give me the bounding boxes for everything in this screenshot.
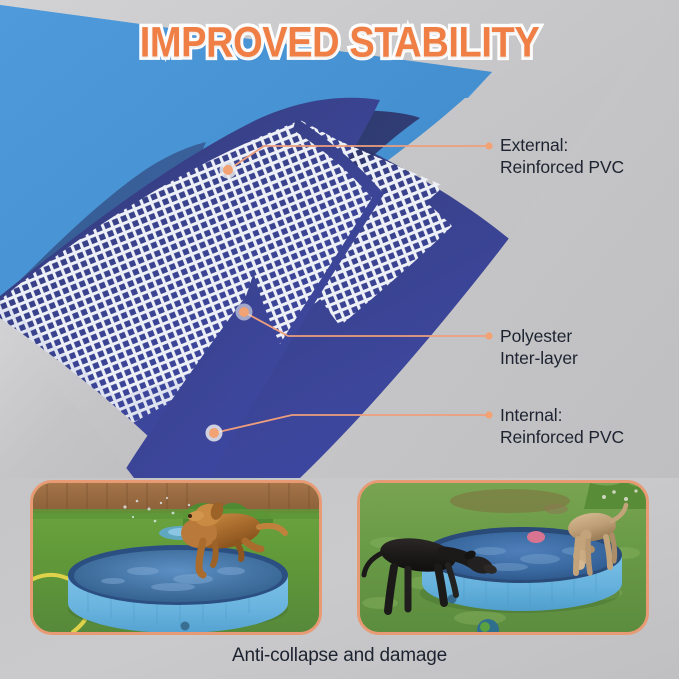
dog-rear-leg-2 [612, 535, 615, 561]
photo-right-scene [360, 483, 646, 632]
dog-nose [188, 514, 192, 518]
bush-cluster [584, 483, 646, 509]
anchor-dot-polyester [239, 307, 249, 317]
end-dot-polyester [485, 332, 492, 339]
ball-toy-patch [480, 622, 490, 632]
infographic-root: IMPROVED STABILITY External: Reinforced … [0, 0, 679, 679]
callout-label-polyester: Polyester Inter-layer [500, 325, 578, 370]
dog-front-leg [199, 541, 203, 575]
anchor-dot-internal [209, 428, 219, 438]
dog-front-leg-2 [213, 543, 216, 565]
grass-edge [33, 509, 319, 519]
photo-two-dogs-at-pool [357, 480, 649, 635]
callout-label-external: External: Reinforced PVC [500, 134, 624, 179]
bottom-caption: Anti-collapse and damage [0, 645, 679, 667]
end-dot-external [485, 142, 492, 149]
dog-front-leg [576, 539, 578, 573]
photo-dog-jumping-into-pool [30, 480, 322, 635]
wooden-fence [33, 483, 319, 513]
stone [544, 504, 568, 514]
pink-toy [527, 531, 545, 543]
anchor-dot-external [223, 165, 233, 175]
photo-left-scene [33, 483, 319, 632]
callout-label-internal: Internal: Reinforced PVC [500, 404, 624, 449]
end-dot-internal [485, 411, 492, 418]
dog-front-leg-2 [588, 541, 590, 573]
pool-drain-plug [181, 622, 190, 631]
